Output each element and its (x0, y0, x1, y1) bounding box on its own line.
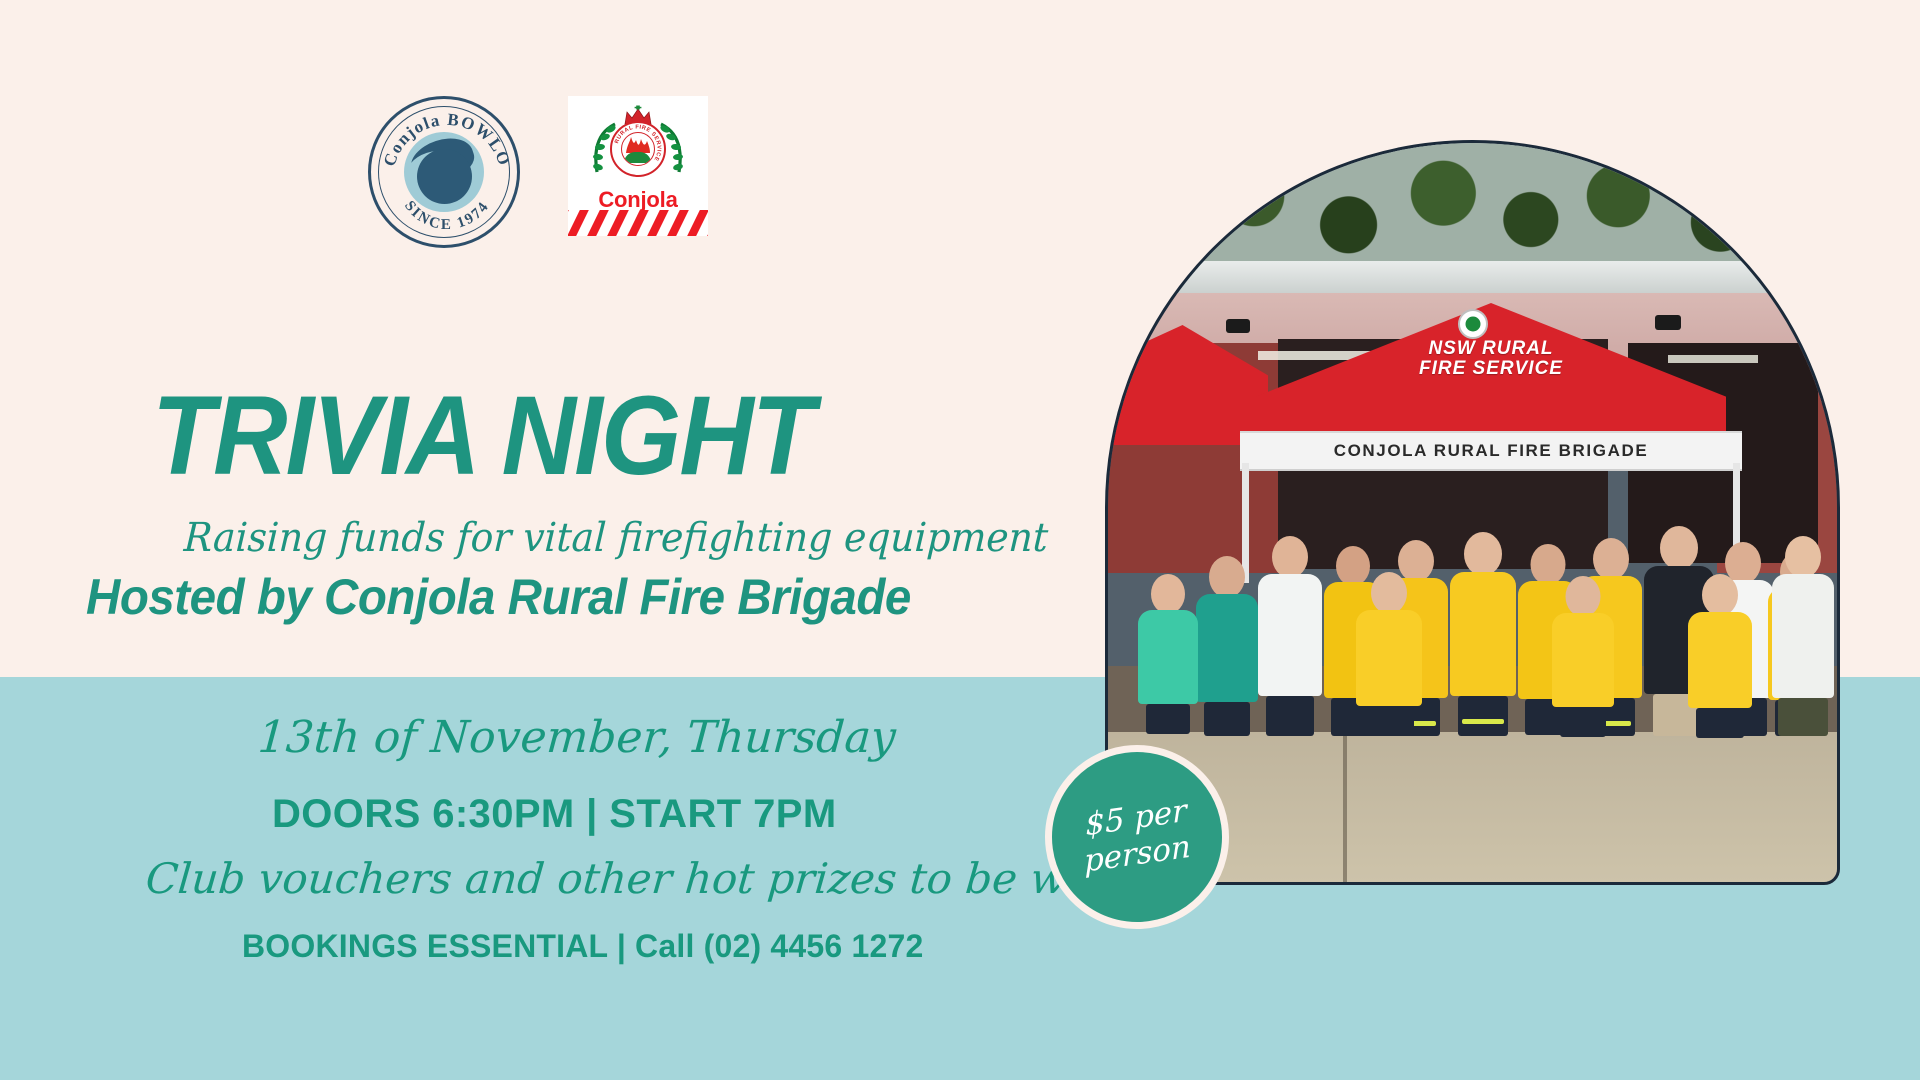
flyer-canvas: Conjola BOWLO SINCE 1974 (0, 0, 1920, 1080)
event-date: 13th of November, Thursday (256, 716, 897, 760)
fire-crest-icon: NSW RURAL FIRE SERVICE (590, 105, 686, 183)
person-figure (1772, 536, 1834, 732)
person-figure (1138, 574, 1198, 732)
subtitle-script: Raising funds for vital firefighting equ… (183, 518, 1049, 558)
person-figure (1258, 536, 1322, 732)
person-figure (1196, 556, 1258, 732)
gazebo-crest-icon (1458, 309, 1488, 339)
svg-text:SINCE 1974: SINCE 1974 (401, 198, 493, 233)
brigade-group-photo: NSW RURAL FIRE SERVICE CONJOLA RURAL FIR… (1105, 140, 1840, 885)
nsw-rfs-conjola-logo: NSW RURAL FIRE SERVICE Conjola (568, 96, 708, 236)
bowlo-arc-top-label: Conjola BOWLO (380, 110, 515, 169)
gazebo-line-1: NSW RURAL (1256, 339, 1726, 359)
hill-shape (624, 152, 651, 163)
rfs-stripe-banner (568, 210, 708, 236)
bowlo-arc-bottom-label: SINCE 1974 (401, 198, 493, 233)
photo-crowd (1108, 432, 1837, 732)
photo-ground-seam (1343, 717, 1347, 882)
flame-icon (625, 136, 651, 153)
svg-text:Conjola BOWLO: Conjola BOWLO (380, 110, 515, 169)
hosted-by-line: Hosted by Conjola Rural Fire Brigade (86, 572, 911, 622)
person-figure (1450, 532, 1516, 732)
event-prizes: Club vouchers and other hot prizes to be… (144, 858, 1137, 900)
event-times: DOORS 6:30PM | START 7PM (272, 794, 837, 834)
photo-roof-fascia (1108, 261, 1837, 295)
security-camera-icon (1226, 319, 1250, 333)
photo-trees (1108, 143, 1837, 275)
person-figure (1688, 574, 1752, 732)
conjola-bowlo-logo: Conjola BOWLO SINCE 1974 (368, 96, 520, 248)
rfs-crest-disc: NSW RURAL FIRE SERVICE (610, 121, 666, 177)
person-figure (1356, 572, 1422, 732)
gazebo-service-text: NSW RURAL FIRE SERVICE (1256, 339, 1726, 379)
bookings-info: BOOKINGS ESSENTIAL | Call (02) 4456 1272 (242, 930, 924, 962)
person-figure (1552, 576, 1614, 732)
logo-row: Conjola BOWLO SINCE 1974 (368, 96, 708, 248)
page-title: TRIVIA NIGHT (152, 380, 813, 492)
bowlo-arc-text: Conjola BOWLO SINCE 1974 (371, 99, 523, 251)
gazebo-line-2: FIRE SERVICE (1256, 359, 1726, 379)
price-badge-text: $5 per person (1082, 793, 1191, 880)
security-camera-icon-2 (1655, 315, 1681, 330)
